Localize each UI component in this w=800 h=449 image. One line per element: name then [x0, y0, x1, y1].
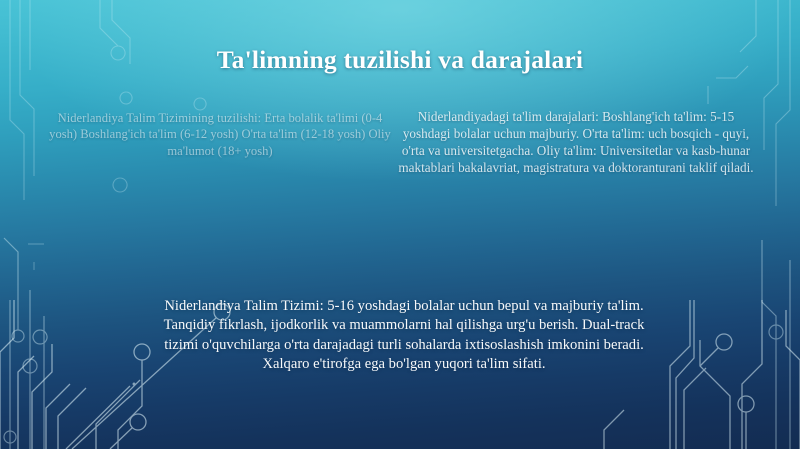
page-title: Ta'limning tuzilishi va darajalari [0, 45, 800, 75]
summary-paragraph: Niderlandiya Talim Tizimi: 5-16 yoshdagi… [150, 297, 658, 375]
text-column-right: Niderlandiyadagi ta'lim darajalari: Bosh… [398, 108, 754, 177]
presentation-slide: Ta'limning tuzilishi va darajalari Nider… [0, 0, 800, 449]
text-column-left: Niderlandiya Talim Tizimining tuzilishi:… [46, 110, 394, 159]
